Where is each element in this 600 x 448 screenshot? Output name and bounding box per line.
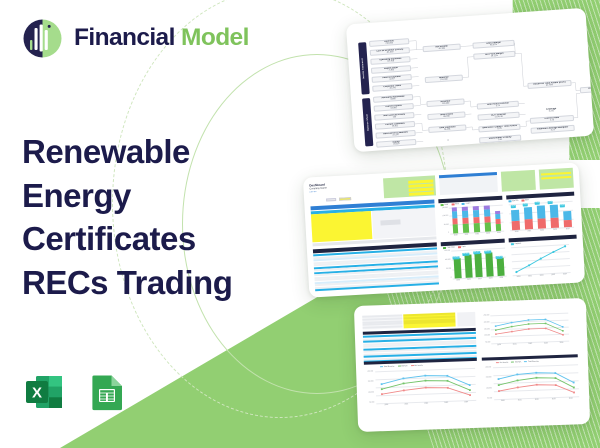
dupont-tree: Income Statement Balance Sheet Revenue21… (351, 13, 589, 147)
dashboard-card-inner: Dashboard Company Name ▸ ▸ ▸ ▸ ▸ (303, 162, 585, 297)
statements-card-inner: 250,000 200,000 150,000 100,000 50,000 2… (354, 298, 590, 432)
core-financials-rows (313, 247, 439, 291)
stacked-bar-2023 (484, 205, 491, 231)
stacked-bar-2021 (462, 207, 469, 233)
cash-flow-bar-2023 (486, 252, 494, 276)
dupont-connectors (351, 13, 589, 147)
summary-yellow-grid (403, 313, 455, 329)
title-line-3: Certificates (22, 217, 290, 261)
chart3-series (493, 364, 579, 399)
ebitda-label-2023: 25,4 (548, 201, 553, 204)
stacked-bar-2020 (451, 207, 458, 233)
summary-extra-col (457, 312, 475, 327)
cash-flow-bar-2020 (453, 258, 461, 278)
financial-statements-card[interactable]: 250,000 200,000 150,000 100,000 50,000 2… (354, 298, 590, 432)
chart1-series (490, 313, 569, 344)
file-format-icons: X (22, 370, 129, 414)
project-revenues-legend: Solar Wind Hydro (441, 202, 471, 206)
cash-flow-bar-2021 (464, 255, 472, 278)
svg-text:X: X (32, 385, 42, 402)
cash-flow-bar-2024 (497, 258, 505, 276)
payback-line-series (511, 244, 570, 275)
dashboard-button-2[interactable] (339, 197, 351, 201)
cash-flow-label-2024: 23,870 (496, 256, 503, 259)
cash-flow-label-2023: 30,227 (484, 250, 491, 253)
ebitda-bar-2020 (511, 210, 520, 230)
title-line-4: RECs Trading (22, 261, 290, 305)
title-line-2: Energy (22, 174, 290, 218)
ebitda-label-2024: 21,0 (560, 204, 565, 207)
stacked-bar-2022 (473, 206, 480, 232)
chart1-yaxis: 250,000 200,000 150,000 100,000 50,000 (480, 315, 490, 343)
summary-labels (362, 314, 402, 329)
cash-inputs-yellow-area (311, 211, 372, 242)
cash-flow-label-2022: 30,114 (473, 251, 480, 254)
ebitda-bar-2023 (550, 205, 559, 228)
title-line-1: Renewable (22, 130, 290, 174)
brand-wordmark: Financial Model (74, 26, 249, 51)
page-title: Renewable Energy Certificates RECs Tradi… (22, 130, 290, 304)
ebitda-bar-2022 (537, 205, 546, 228)
brand-name-part1: Financial (74, 24, 175, 51)
project-revenues-yaxis: 150,000100,00050,0000 (439, 208, 449, 234)
chart2-legend: Total Revenue EBITDA Net Income (380, 364, 423, 367)
ebitda-label-2022: 25,3 (535, 202, 540, 205)
assumptions-green-block-2 (501, 170, 536, 192)
ebitda-label-2021: 24,1 (523, 203, 528, 206)
chart2-series (375, 368, 476, 403)
cash-flow-yaxis: 150,000100,00050,0000 (441, 251, 452, 279)
payback-chart-title (509, 235, 577, 243)
google-sheets-icon[interactable] (85, 370, 129, 414)
dupont-analysis-card[interactable]: Income Statement Balance Sheet Revenue21… (346, 8, 594, 152)
payback-legend: Payback (511, 243, 521, 246)
brand-logo: Financial Model (22, 18, 249, 59)
financial-dashboard-card[interactable]: Dashboard Company Name ▸ ▸ ▸ ▸ ▸ (303, 162, 585, 297)
dashboard-header: Dashboard Company Name ▸ ▸ ▸ ▸ ▸ (309, 181, 361, 193)
brand-name-part2: Model (181, 24, 249, 51)
chart2-yaxis: 200,000 150,000 100,000 50,000 (364, 371, 374, 403)
ebitda-bar-2024 (563, 211, 572, 227)
cash-flow-chart-title (441, 239, 505, 247)
cash-flow-legend: Cash Flow Opex (443, 246, 466, 249)
circular-bar-chart-logo-icon (22, 18, 63, 59)
microsoft-excel-icon[interactable]: X (22, 370, 66, 414)
ebitda-label-2020: 22,0 (511, 205, 516, 208)
stacked-bar-2024 (495, 211, 502, 231)
poster-canvas: Financial Model Renewable Energy Certifi… (0, 0, 600, 448)
ebitda-bar-2021 (524, 207, 533, 229)
ebitda-chart-title (506, 192, 574, 200)
ebitda-legend: EBITDA EBIT (508, 199, 529, 202)
cash-flow-bar-2022 (475, 253, 483, 277)
cash-flow-label-2021: 28,902 (462, 253, 469, 256)
project-revenues-bars (449, 205, 504, 234)
dashboard-button-1[interactable] (326, 198, 336, 202)
dupont-card-inner: Income Statement Balance Sheet Revenue21… (346, 8, 594, 152)
cash-flow-label-2020: 24,561 (452, 256, 459, 259)
chart3-yaxis: 200,000 150,000 100,000 50,000 (482, 367, 492, 399)
chart3-legend: Net Income EBITDA Total Revenue (496, 360, 539, 363)
